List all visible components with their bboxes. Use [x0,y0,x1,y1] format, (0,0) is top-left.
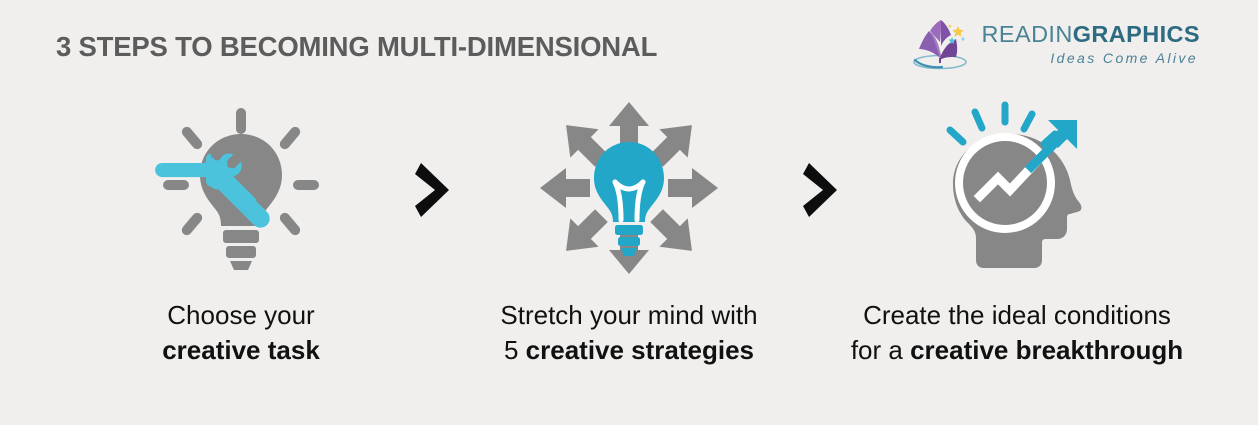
step-3-caption-line1: Create the ideal conditions [851,298,1183,333]
step-3-caption-prefix: for a [851,335,910,365]
step-2-icon-wrap [534,100,724,280]
step-3-caption: Create the ideal conditions for a creati… [851,298,1183,368]
lightbulb-with-expanding-arrows-icon [534,98,724,283]
step-3: Create the ideal conditions for a creati… [852,100,1182,368]
step-1: Choose your creative task [76,100,406,368]
chevron-right-icon [803,159,843,221]
step-3-caption-line2: for a creative breakthrough [851,333,1183,368]
step-1-caption-line1: Choose your [162,298,320,333]
steps-row: Choose your creative task [0,100,1258,368]
logo-name-bold: GRAPHICS [1073,21,1200,47]
step-1-caption: Choose your creative task [162,298,320,368]
logo-tagline: Ideas Come Alive [1050,51,1200,65]
step-1-caption-line2: creative task [162,333,320,368]
chevron-right-icon [415,159,455,221]
step-1-icon-wrap [151,100,331,280]
step-2: Stretch your mind with 5 creative strate… [464,100,794,368]
step-2-caption-bold: creative strategies [526,335,754,365]
step-3-icon-wrap [922,100,1112,280]
step-3-caption-bold: creative breakthrough [910,335,1183,365]
logo-name: READINGRAPHICS [982,23,1200,47]
separator-chevron-1 [406,100,464,280]
head-with-rising-chart-arrow-icon [922,98,1112,283]
readingraphics-logo: READINGRAPHICS Ideas Come Alive [911,18,1200,70]
open-book-with-stars-logo-icon [911,18,973,70]
step-2-caption-line2: 5 creative strategies [500,333,757,368]
infographic-canvas: 3 STEPS TO BECOMING MULTI-DIMENSIONAL [0,0,1258,425]
step-2-caption: Stretch your mind with 5 creative strate… [500,298,757,368]
lightbulb-with-tools-icon [151,98,331,283]
logo-name-light: READIN [982,21,1073,47]
separator-chevron-2 [794,100,852,280]
step-2-caption-line1: Stretch your mind with [500,298,757,333]
logo-wordmark: READINGRAPHICS Ideas Come Alive [982,23,1200,66]
page-title: 3 STEPS TO BECOMING MULTI-DIMENSIONAL [56,31,657,63]
step-2-caption-prefix: 5 [504,335,526,365]
step-1-caption-bold: creative task [162,335,320,365]
